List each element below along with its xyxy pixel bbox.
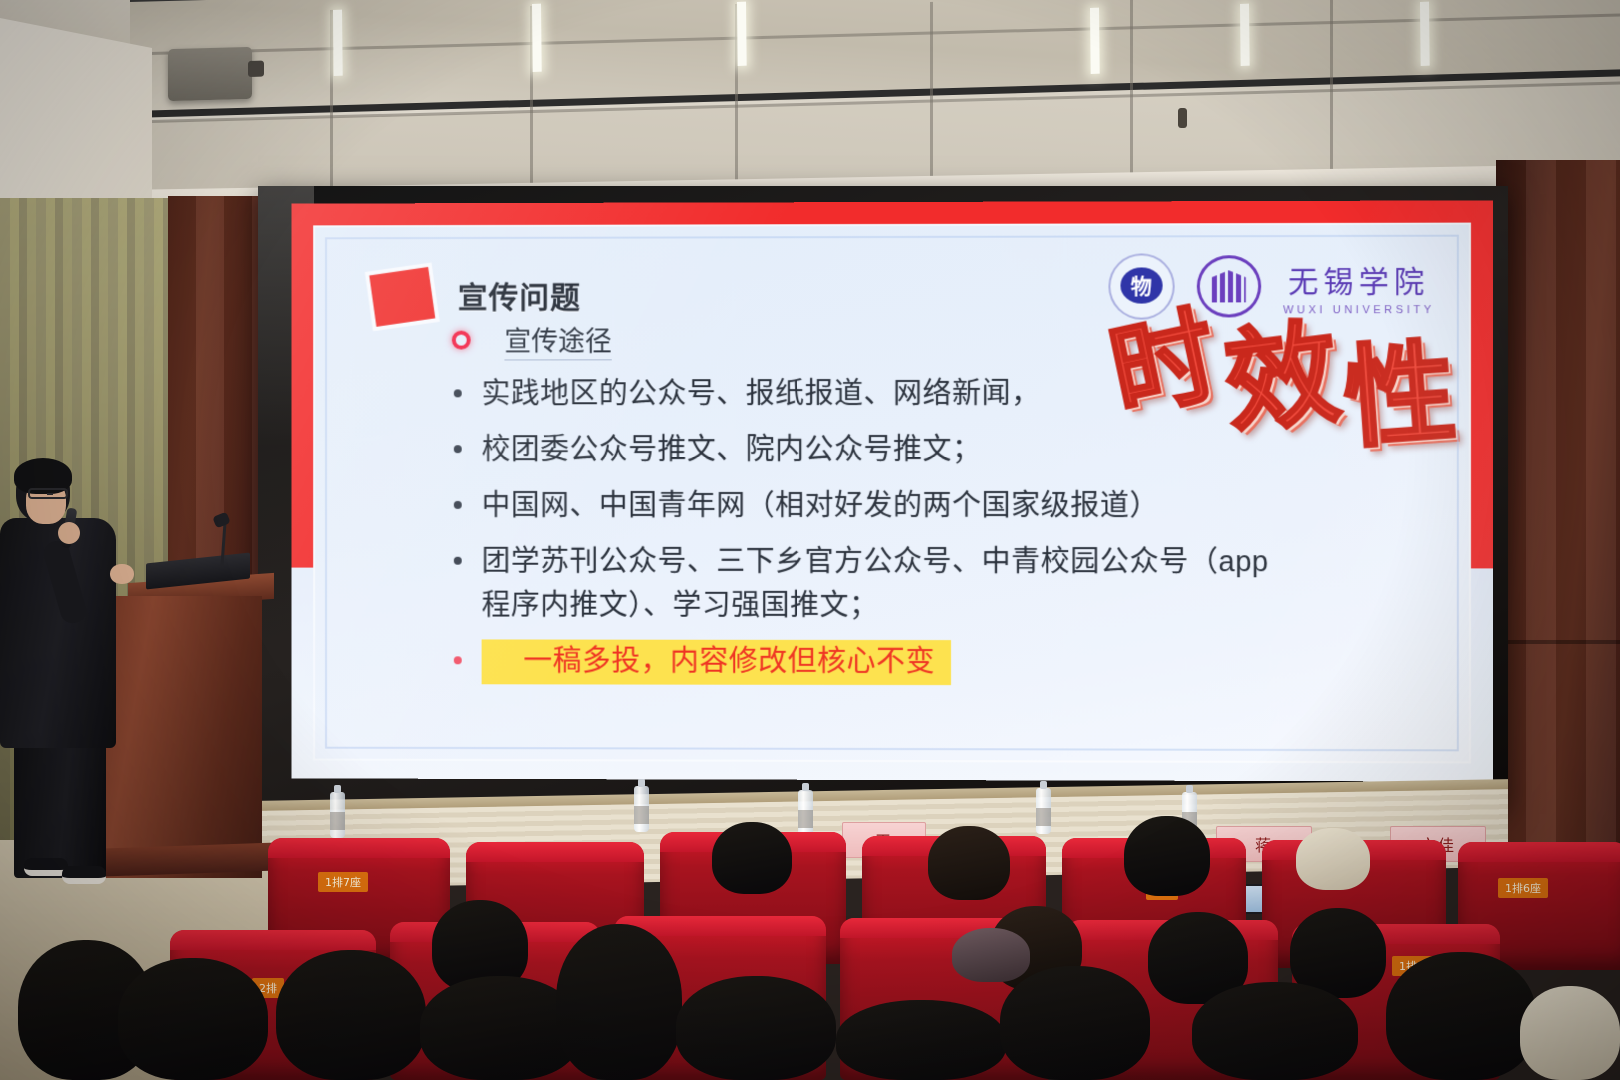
presentation-slide: 宣传问题 宣传途径 物 无锡学院 WUXI UNIVERSITY	[291, 200, 1493, 781]
wall-panel-seam	[1496, 640, 1620, 644]
red-square-decoration	[369, 267, 435, 327]
audience-head	[836, 1000, 1006, 1080]
bullet-text: 实践地区的公众号、报纸报道、网络新闻，	[482, 372, 1041, 416]
bullet-dot-icon	[454, 389, 462, 397]
water-bottle	[1036, 788, 1051, 834]
bullet-text: 团学苏刊公众号、三下乡官方公众号、中青校园公众号（app	[482, 546, 1269, 579]
audience-head	[952, 928, 1030, 982]
bullet-text-wrapper: 一稿多投，内容修改但核心不变	[482, 639, 951, 685]
slide-title: 宣传问题	[458, 273, 581, 317]
audience-head	[1192, 982, 1358, 1080]
list-item: 实践地区的公众号、报纸报道、网络新闻，	[454, 371, 1465, 416]
bullet-text-continuation: 程序内推文）、学习强国推文；	[482, 584, 1269, 629]
audience-head	[1296, 828, 1370, 890]
ceiling-tube-light	[532, 4, 542, 72]
audience-head	[712, 822, 792, 894]
ceiling-tube-light	[333, 10, 343, 76]
audience-head	[118, 958, 268, 1080]
audience-head	[1000, 966, 1150, 1080]
water-bottle	[798, 790, 813, 836]
highlighted-bullet-text: 一稿多投，内容修改但核心不变	[482, 639, 951, 685]
bullet-dot-icon	[454, 656, 462, 664]
list-item: 团学苏刊公众号、三下乡官方公众号、中青校园公众号（app 程序内推文）、学习强国…	[454, 540, 1465, 629]
seat-label: 1排6座	[1498, 878, 1548, 898]
presenter-shoe	[62, 866, 106, 884]
ceiling-tube-light	[1420, 2, 1430, 66]
water-bottle	[330, 792, 345, 838]
list-item-highlighted: 一稿多投，内容修改但核心不变	[454, 639, 1465, 686]
ceiling-projector	[168, 47, 252, 101]
bullet-dot-icon	[454, 557, 462, 565]
presenter-hand	[58, 522, 80, 544]
audience-head	[928, 826, 1010, 900]
slide-content-area: 宣传问题 宣传途径 物 无锡学院 WUXI UNIVERSITY	[313, 223, 1471, 764]
auditorium-scene: 宣传问题 宣传途径 物 无锡学院 WUXI UNIVERSITY	[0, 0, 1620, 1080]
audience-head	[276, 950, 426, 1080]
wall-wood-panel-right	[1496, 160, 1620, 900]
ceiling-tube-light	[1240, 4, 1250, 66]
seat-label: 1排7座	[318, 872, 368, 892]
ring-bullet-icon	[452, 331, 471, 350]
ceiling-fixture	[1178, 108, 1187, 128]
badge-glyph: 物	[1120, 267, 1162, 303]
bullet-text-wrapper: 团学苏刊公众号、三下乡官方公众号、中青校园公众号（app 程序内推文）、学习强国…	[482, 540, 1269, 629]
slide-bullet-list: 实践地区的公众号、报纸报道、网络新闻， 校团委公众号推文、院内公众号推文； 中国…	[454, 371, 1465, 698]
bullet-dot-icon	[454, 501, 462, 509]
bullet-text: 校团委公众号推文、院内公众号推文；	[482, 428, 982, 472]
audience-head	[676, 976, 836, 1080]
presenter-hand	[110, 564, 134, 584]
audience-head	[1124, 816, 1210, 896]
list-item: 中国网、中国青年网（相对好发的两个国家级报道）	[454, 484, 1465, 528]
list-item: 校团委公众号推文、院内公众号推文；	[454, 428, 1465, 472]
ceiling-tube-light	[737, 2, 747, 66]
bullet-text: 中国网、中国青年网（相对好发的两个国家级报道）	[482, 484, 1160, 528]
bullet-dot-icon	[454, 445, 462, 453]
presenter-glasses-icon	[28, 488, 68, 499]
slide-subtitle: 宣传途径	[504, 319, 611, 360]
presenter-legs	[14, 726, 106, 878]
audience-head	[1520, 986, 1620, 1080]
slide-subtitle-row: 宣传途径	[452, 319, 612, 360]
audience-head	[1386, 952, 1536, 1080]
water-bottle	[634, 786, 649, 832]
audience-head	[556, 924, 682, 1080]
ceiling-tube-light	[1090, 8, 1100, 74]
